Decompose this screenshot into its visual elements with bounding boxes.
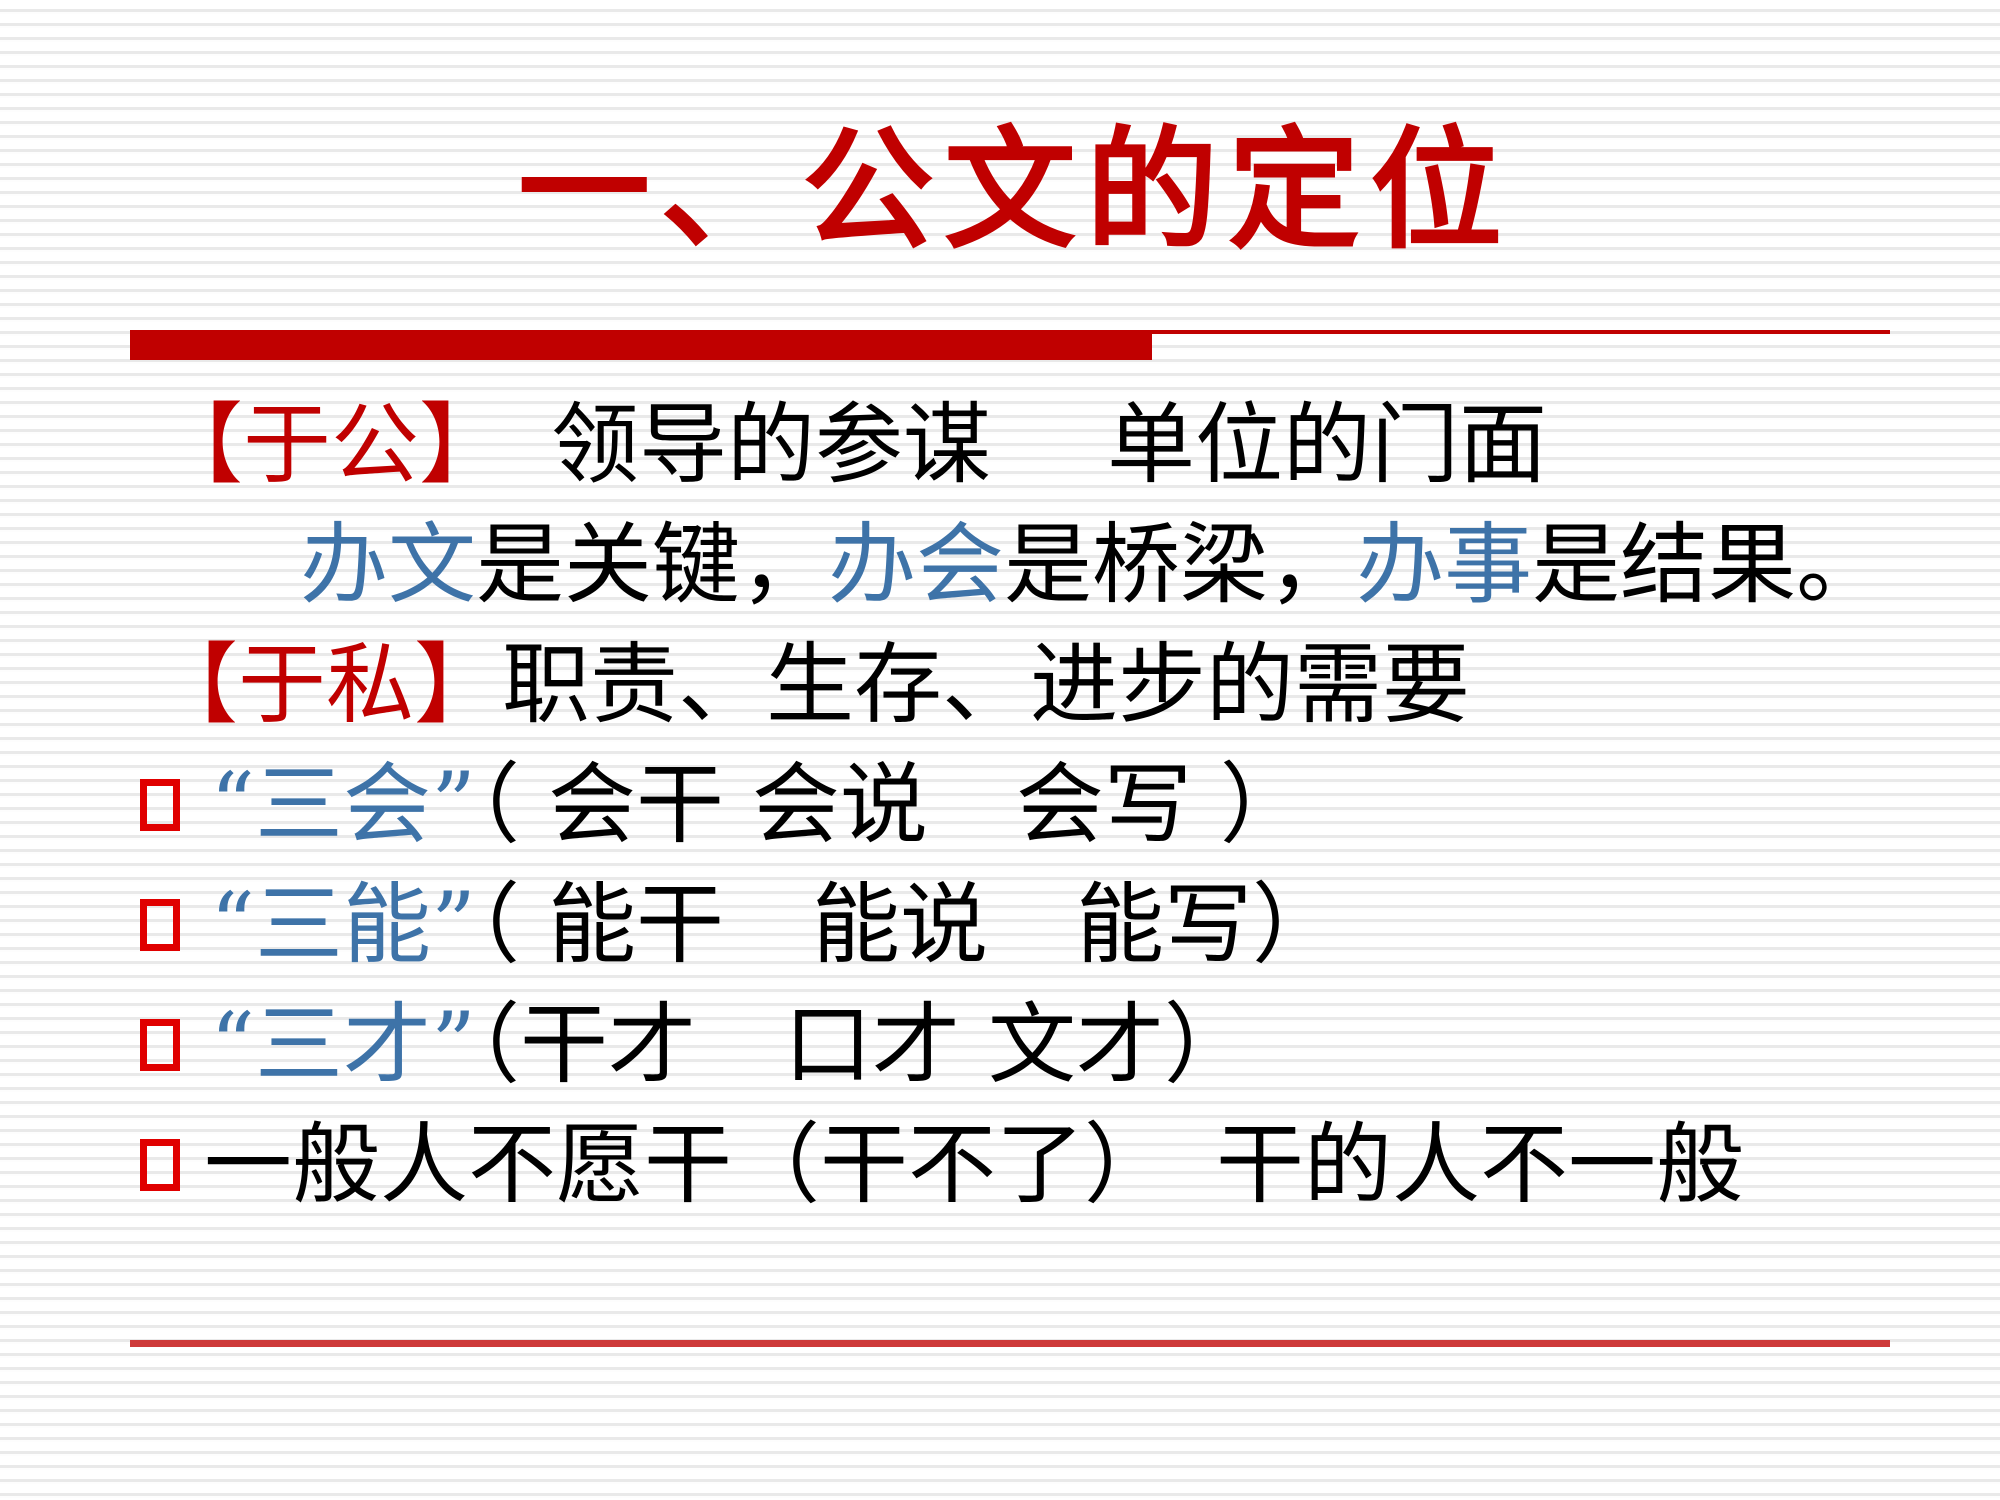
banshi-keyword: 办事	[1356, 513, 1532, 616]
square-bullet-icon	[140, 779, 180, 831]
yusi-text: 职责、生存、进步的需要	[502, 633, 1470, 736]
sanhui-detail: （ 会干 会说 会写 ）	[476, 753, 1308, 856]
list-item-text: 一般人不愿干（干不了） 干的人不一般	[204, 1110, 1744, 1220]
banhui-keyword: 办会	[828, 513, 1004, 616]
list-item: “三会”（ 会干 会说 会写 ）	[0, 745, 2000, 865]
yusi-tag: 【于私】	[150, 633, 502, 736]
square-bullet-icon	[140, 1019, 180, 1071]
footer-divider-line	[130, 1340, 1890, 1347]
banwen-keyword: 办文	[300, 513, 476, 616]
list-item: “三才”（干才 口才 文才）	[0, 985, 2000, 1105]
banhui-predicate: 是桥梁，	[1004, 513, 1356, 616]
square-bullet-icon	[140, 899, 180, 951]
body-line-yugong: 【于公】 领导的参谋 单位的门面	[0, 385, 2000, 505]
yugong-text: 领导的参谋 单位的门面	[463, 393, 1547, 496]
sanneng-keyword: “三能”	[210, 873, 476, 976]
list-item-text: “三能”（ 能干 能说 能写）	[210, 870, 1340, 980]
page-title-text: 一、公文的定位	[488, 120, 1512, 263]
body-line-banwen: 办文是关键，办会是桥梁，办事是结果。	[0, 505, 2000, 625]
yibanren-detail: 一般人不愿干（干不了） 干的人不一般	[204, 1113, 1744, 1216]
slide-canvas: 一、公文的定位 【于公】 领导的参谋 单位的门面 办文是关键，办会是桥梁，办事是…	[0, 0, 2000, 1500]
list-item: “三能”（ 能干 能说 能写）	[0, 865, 2000, 985]
list-item: 一般人不愿干（干不了） 干的人不一般	[0, 1105, 2000, 1225]
banwen-predicate: 是关键，	[476, 513, 828, 616]
banshi-predicate: 是结果。	[1532, 513, 1884, 616]
slide-body: 【于公】 领导的参谋 单位的门面 办文是关键，办会是桥梁，办事是结果。 【于私】…	[0, 385, 2000, 1225]
list-item-text: “三才”（干才 口才 文才）	[210, 990, 1252, 1100]
sanneng-detail: （ 能干 能说 能写）	[476, 873, 1340, 976]
yugong-tag: 【于公】	[155, 393, 463, 496]
body-line-yusi: 【于私】职责、生存、进步的需要	[0, 625, 2000, 745]
sancai-keyword: “三才”	[210, 993, 476, 1096]
sanhui-keyword: “三会”	[210, 753, 476, 856]
sancai-detail: （干才 口才 文才）	[476, 993, 1252, 1096]
square-bullet-icon	[140, 1139, 180, 1191]
title-divider-thick-bar	[130, 332, 1152, 360]
page-title: 一、公文的定位	[0, 120, 2000, 263]
list-item-text: “三会”（ 会干 会说 会写 ）	[210, 750, 1308, 860]
